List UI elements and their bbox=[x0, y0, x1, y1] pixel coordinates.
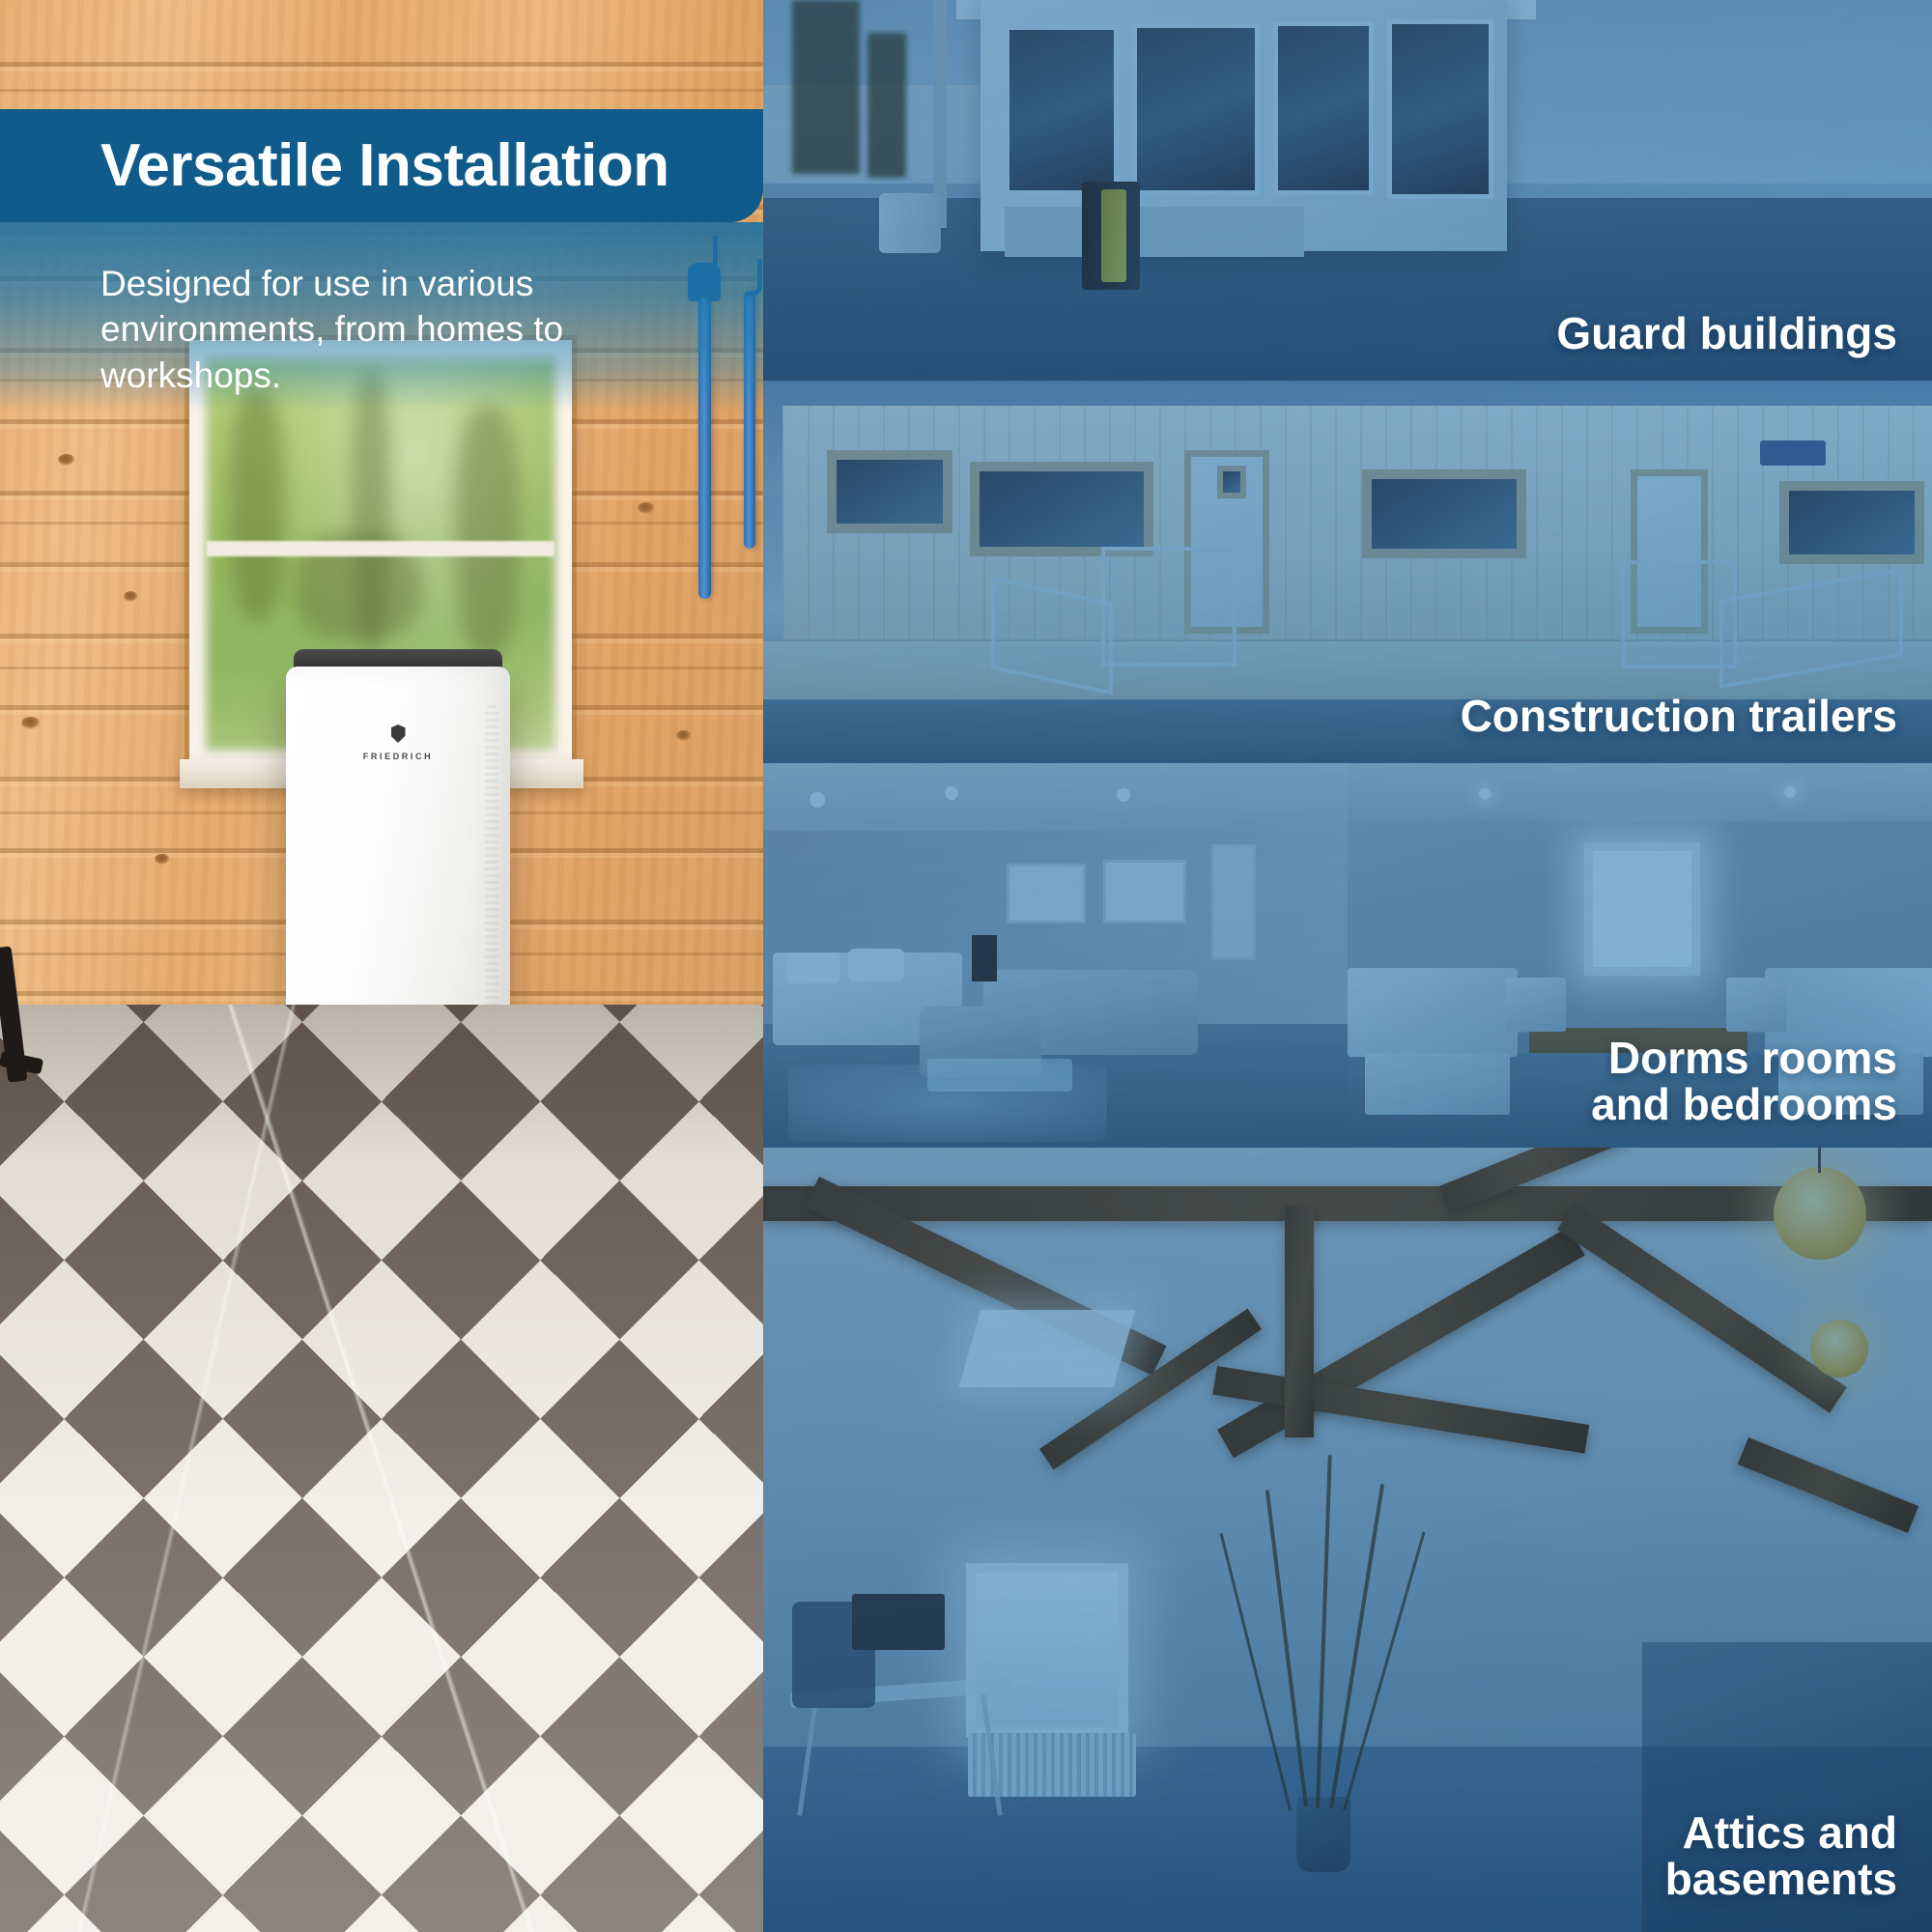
title-banner: Versatile Installation bbox=[0, 109, 763, 222]
tile-attics-basements[interactable]: Attics and basements bbox=[763, 1148, 1932, 1932]
marketing-infographic: FRIEDRICH Versatile Installation Designe… bbox=[0, 0, 1932, 1932]
tile-guard-buildings[interactable]: Guard buildings bbox=[763, 0, 1932, 381]
tile-label: Guard buildings bbox=[1556, 311, 1897, 357]
plank-seam bbox=[0, 89, 763, 92]
wood-knot bbox=[676, 730, 692, 741]
use-case-tiles: Guard buildings bbox=[763, 0, 1932, 1932]
brand-name: FRIEDRICH bbox=[286, 752, 510, 761]
page-title: Versatile Installation bbox=[0, 136, 669, 196]
tile-hotel-living-room[interactable] bbox=[763, 763, 1348, 1148]
tile-label-line1: Attics and bbox=[1665, 1810, 1897, 1857]
hero-panel: FRIEDRICH Versatile Installation Designe… bbox=[0, 0, 763, 1932]
wood-knot bbox=[638, 502, 655, 514]
tile-label: Attics and basements bbox=[1665, 1810, 1897, 1903]
tile-label-line1: Dorms rooms bbox=[1591, 1036, 1897, 1082]
shield-logo-icon bbox=[391, 724, 406, 743]
tint-lift bbox=[763, 763, 1348, 1148]
tile-construction-trailers[interactable]: Construction trailers bbox=[763, 381, 1932, 763]
foliage-blur bbox=[456, 406, 520, 657]
window-muntin bbox=[207, 541, 554, 556]
brand-logo: FRIEDRICH bbox=[286, 723, 510, 761]
foliage-blur bbox=[230, 388, 284, 620]
hero-subtitle: Designed for use in various environments… bbox=[100, 261, 641, 398]
wood-knot bbox=[155, 854, 170, 865]
floor-grout-veins bbox=[0, 1005, 763, 1932]
tile-label-line2: and bedrooms bbox=[1591, 1082, 1897, 1128]
tile-label: Construction trailers bbox=[1461, 694, 1897, 740]
ac-body: FRIEDRICH bbox=[286, 667, 510, 1061]
wood-knot bbox=[58, 454, 75, 466]
tile-label: Dorms rooms and bedrooms bbox=[1591, 1036, 1897, 1128]
wood-knot bbox=[21, 717, 41, 729]
tile-label-line2: basements bbox=[1665, 1857, 1897, 1903]
tile-dorm-bedroom[interactable]: Dorms rooms and bedrooms bbox=[1348, 763, 1932, 1148]
wood-knot bbox=[124, 591, 138, 602]
